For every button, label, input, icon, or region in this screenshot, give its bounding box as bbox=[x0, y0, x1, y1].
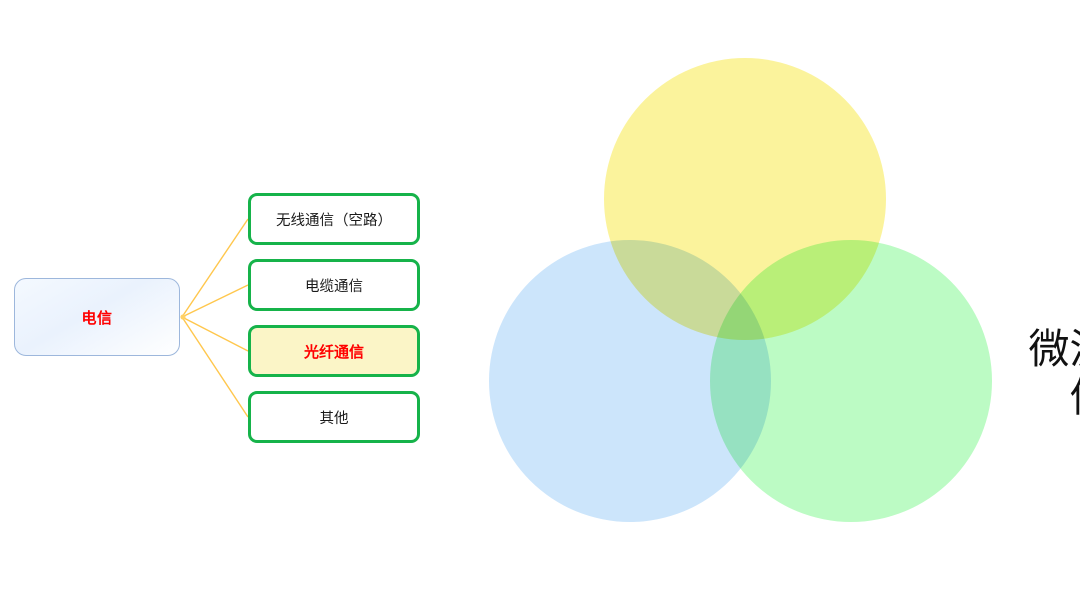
connector-line-2 bbox=[182, 285, 248, 317]
leaf-node-other[interactable]: 其他 bbox=[248, 391, 420, 443]
leaf-node-label: 电缆通信 bbox=[305, 275, 363, 296]
communication-venn-diagram: 光纤通信 微波通信 电缆通信 bbox=[460, 0, 1080, 607]
leaf-node-label: 光纤通信 bbox=[304, 341, 364, 362]
root-node-label: 电信 bbox=[81, 307, 112, 328]
leaf-node-cable[interactable]: 电缆通信 bbox=[248, 259, 420, 311]
leaf-node-wireless[interactable]: 无线通信（空路） bbox=[248, 193, 420, 245]
leaf-node-label: 无线通信（空路） bbox=[276, 209, 392, 230]
connector-hub-node bbox=[180, 314, 185, 319]
root-node-telecom[interactable]: 电信 bbox=[14, 278, 180, 356]
venn-circle-cable[interactable] bbox=[710, 240, 992, 522]
leaf-node-fiber-optic[interactable]: 光纤通信 bbox=[248, 325, 420, 377]
connector-line-4 bbox=[182, 317, 248, 417]
leaf-node-label: 其他 bbox=[320, 407, 349, 428]
telecom-tree-diagram: 电信 无线通信（空路） 电缆通信 光纤通信 其他 bbox=[0, 0, 470, 607]
venn-circles-group bbox=[460, 0, 1080, 607]
connector-line-3 bbox=[182, 317, 248, 351]
connector-line-set bbox=[182, 219, 248, 417]
connector-line-1 bbox=[182, 219, 248, 317]
slide-canvas: 电信 无线通信（空路） 电缆通信 光纤通信 其他 光纤通信 微 bbox=[0, 0, 1080, 607]
